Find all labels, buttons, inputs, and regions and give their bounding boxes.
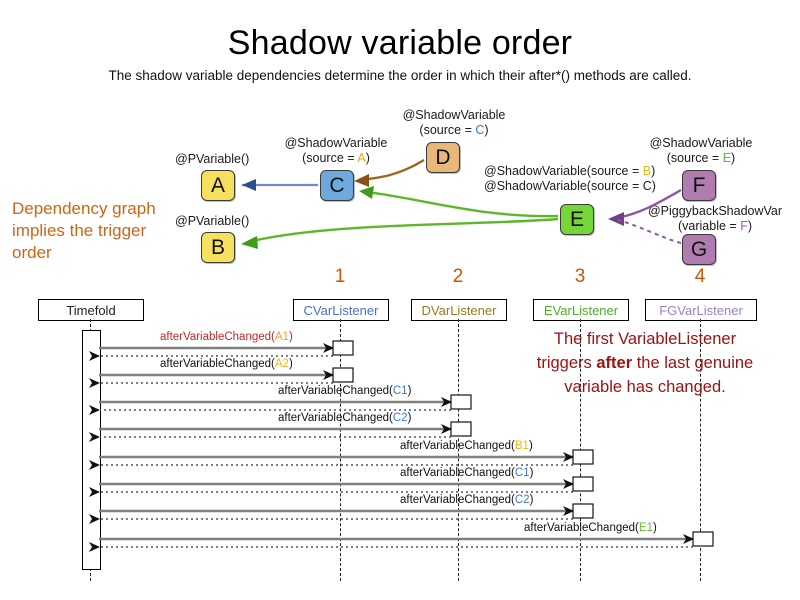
message-6 bbox=[99, 477, 593, 492]
message-5 bbox=[99, 450, 593, 465]
message-7 bbox=[99, 504, 593, 519]
diagram-canvas: Shadow variable order The shadow variabl… bbox=[0, 0, 800, 600]
message-4 bbox=[99, 422, 471, 437]
message-1 bbox=[99, 341, 353, 356]
sequence-messages bbox=[0, 0, 800, 600]
message-3 bbox=[99, 395, 471, 410]
message-8 bbox=[99, 532, 713, 547]
message-2 bbox=[99, 368, 353, 383]
